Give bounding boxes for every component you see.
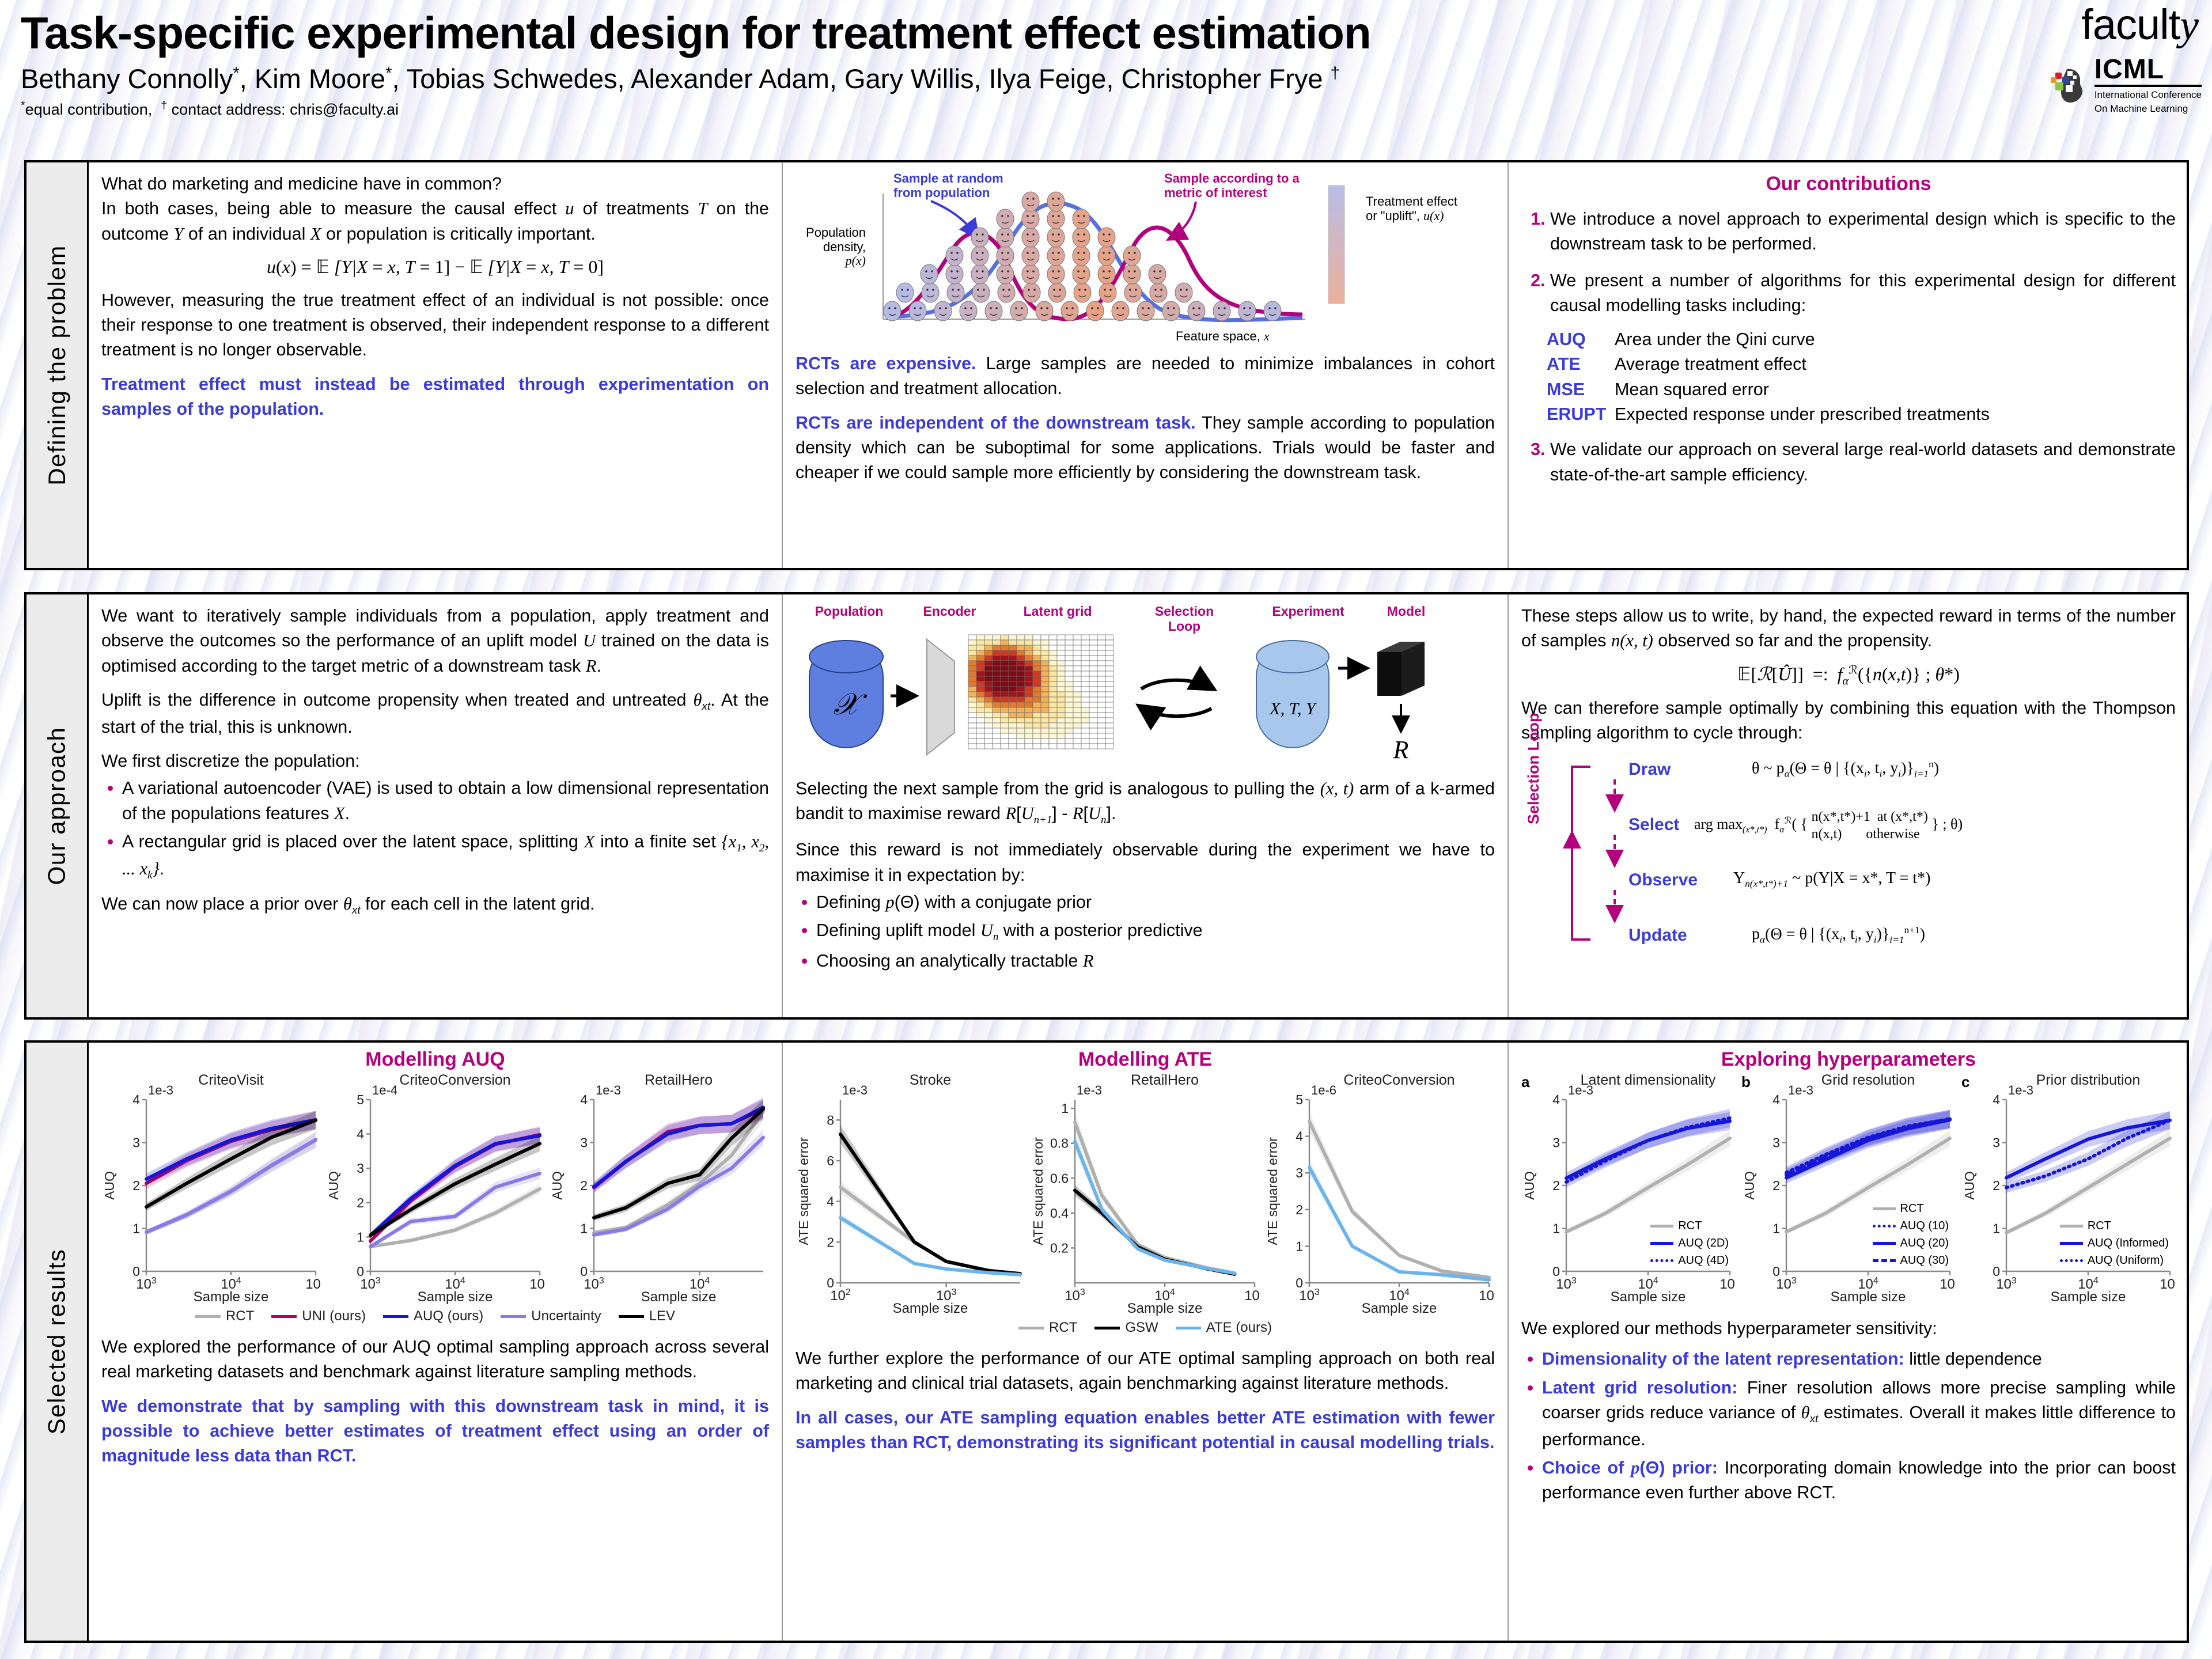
svg-text:102: 102 (830, 1287, 851, 1304)
legend-item: RCT (2060, 1217, 2169, 1234)
auq-highlight: We demonstrate that by sampling with thi… (101, 1394, 769, 1469)
logo-group: faculty ICML International Conference On… (1954, 3, 2202, 147)
svg-text:AUQ: AUQ (1962, 1171, 1977, 1200)
svg-text:X, T, Y: X, T, Y (1269, 699, 1317, 718)
chart-auq-criteovisit: 012341031041051e-3CriteoVisitAUQSample s… (101, 1074, 321, 1305)
svg-text:0.6: 0.6 (1050, 1171, 1069, 1185)
pipeline-svg: 𝒳 (796, 628, 1487, 772)
svg-text:105: 105 (305, 1276, 321, 1292)
svg-text:2: 2 (357, 1195, 364, 1210)
pipeline-stage-population: Population (800, 604, 898, 619)
abbr-row: ATEAverage treatment effect (1547, 352, 2176, 377)
svg-text:2: 2 (827, 1234, 834, 1249)
legend-item: RCT (1018, 1320, 1077, 1336)
panel-our-approach: Our approach We want to iteratively samp… (24, 592, 2189, 1020)
svg-text:4: 4 (1772, 1092, 1780, 1107)
svg-text:Stroke: Stroke (910, 1074, 951, 1088)
abbr-row: MSEMean squared error (1547, 377, 2176, 402)
list-item: Latent grid resolution: Finer resolution… (1542, 1376, 2176, 1453)
p2-expected-reward: These steps allow us to write, by hand, … (1521, 604, 2176, 654)
svg-text:105: 105 (529, 1276, 546, 1292)
svg-text:1e-3: 1e-3 (1788, 1083, 1813, 1097)
svg-text:1e-3: 1e-3 (2008, 1083, 2033, 1097)
panel-letter: c (1961, 1073, 1969, 1091)
svg-text:103: 103 (1299, 1287, 1320, 1304)
ate-paragraph: We further explore the performance of ou… (796, 1346, 1495, 1396)
panel1-col-left: What do marketing and medicine have in c… (89, 162, 783, 568)
panel2-rail-label: Our approach (43, 727, 71, 885)
legend-item: RCT (1650, 1217, 1729, 1234)
list-item: Choice of p(Θ) prior: Incorporating doma… (1542, 1456, 2176, 1506)
svg-text:1: 1 (1993, 1221, 2000, 1236)
svg-text:2: 2 (1772, 1178, 1780, 1193)
pipeline-figure: Population Encoder Latent grid Selection… (796, 604, 1495, 771)
panel-letter: b (1741, 1073, 1751, 1091)
contributions-list-3: We validate our approach on several larg… (1521, 437, 2176, 487)
contributions-list: We introduce a novel approach to experim… (1521, 207, 2176, 318)
author-list: Bethany Connolly*, Kim Moore*, Tobias Sc… (21, 65, 1956, 93)
loop-equation-select: arg max(x*,t*) fαℛ( { n(x*,t*)+1 at (x*,… (1694, 808, 1963, 843)
svg-text:6: 6 (827, 1153, 834, 1168)
uplift-equation: u(x) = 𝔼 [Y|X = x, T = 1] − 𝔼 [Y|X = x, … (101, 256, 769, 278)
list-item: Defining p(Θ) with a conjugate prior (816, 890, 1495, 915)
loop-step-draw: Draw (1628, 760, 1671, 779)
loop-equation-observe: Yn(x*,t*)+1 ~ p(Y|X = x*, T = t*) (1733, 869, 1930, 890)
svg-text:2: 2 (132, 1178, 140, 1193)
p2-bandit-analogy: Selecting the next sample from the grid … (796, 777, 1495, 828)
panel2-rail: Our approach (26, 594, 89, 1017)
svg-text:103: 103 (584, 1276, 604, 1292)
svg-text:0.4: 0.4 (1050, 1206, 1069, 1221)
list-item: Choosing an analytically tractable R (816, 949, 1495, 974)
svg-text:Grid resolution: Grid resolution (1821, 1074, 1915, 1088)
affiliation-note: *equal contribution, † contact address: … (21, 99, 1956, 119)
chart-auq-retailhero: 012341031041e-3RetailHeroAUQSample size (549, 1074, 769, 1305)
svg-text:4: 4 (132, 1092, 140, 1107)
icml-subtitle-line2: On Machine Learning (2094, 103, 2202, 115)
contribution-item: We validate our approach on several larg… (1550, 437, 2176, 487)
legend-item: AUQ (2D) (1650, 1234, 1729, 1252)
panel3-rail: Selected results (26, 1043, 89, 1641)
legend-item: AUQ (10) (1873, 1217, 1949, 1234)
svg-text:ATE squared error: ATE squared error (1031, 1137, 1046, 1245)
svg-text:1: 1 (357, 1229, 364, 1244)
p2-expectation-lead: Since this reward is not immediately obs… (796, 838, 1495, 888)
icml-wordmark: ICML (2094, 56, 2202, 87)
icml-head-icon (2050, 66, 2089, 105)
svg-text:1: 1 (1552, 1221, 1560, 1236)
svg-text:105: 105 (1940, 1276, 1956, 1292)
svg-text:3: 3 (1296, 1165, 1303, 1180)
svg-text:1e-3: 1e-3 (1077, 1083, 1102, 1097)
poster-header: Task-specific experimental design for tr… (21, 2, 1956, 153)
ate-highlight: In all cases, our ATE sampling equation … (796, 1406, 1495, 1456)
panel1-col-right: Our contributions We introduce a novel a… (1509, 162, 2188, 568)
legend-item: LEV (619, 1308, 675, 1324)
svg-text:0.8: 0.8 (1050, 1136, 1069, 1151)
svg-text:5: 5 (357, 1092, 364, 1107)
legend-item: AUQ (4D) (1650, 1252, 1729, 1269)
svg-text:1: 1 (1061, 1101, 1069, 1116)
svg-text:1: 1 (1772, 1221, 1780, 1236)
selection-loop-label: Selection Loop (1525, 713, 1543, 824)
panel3-rail-label: Selected results (43, 1249, 71, 1435)
svg-text:4: 4 (827, 1194, 834, 1209)
list-item: A rectangular grid is placed over the la… (122, 829, 769, 884)
contribution-item: We introduce a novel approach to experim… (1550, 207, 2176, 257)
panel3-col-ate: Modelling ATE 024681021031e-3StrokeATE s… (783, 1043, 1509, 1641)
population-density-figure: Sample at randomfrom population Sample a… (796, 174, 1495, 347)
legend-item: GSW (1094, 1320, 1158, 1336)
hyper-chart-row: a012341031041051e-3Latent dimensionality… (1521, 1074, 2176, 1305)
p1-rct-independent: RCTs are independent of the downstream t… (796, 411, 1495, 486)
expected-reward-equation: 𝔼[ℛ[Û]] =: fαℛ({n(x,t)} ; θ*) (1521, 663, 2176, 688)
p2-uplift-definition: Uplift is the difference in outcome prop… (101, 688, 769, 740)
modelling-ate-heading: Modelling ATE (796, 1048, 1495, 1071)
legend-item: ATE (ours) (1176, 1320, 1272, 1336)
hyper-intro: We explored our methods hyperparameter s… (1521, 1316, 2176, 1341)
svg-text:Sample size: Sample size (1362, 1301, 1437, 1316)
panel1-rail-label: Defining the problem (43, 245, 71, 486)
legend-item: AUQ (30) (1873, 1252, 1949, 1269)
svg-text:1e-6: 1e-6 (1311, 1083, 1336, 1097)
panel-letter: a (1521, 1073, 1529, 1091)
pipeline-stage-encoder: Encoder (905, 604, 994, 619)
svg-text:3: 3 (1552, 1135, 1560, 1150)
p2-thompson-sampling: We can therefore sample optimally by com… (1521, 696, 2176, 746)
pipeline-stage-model: Model (1372, 604, 1441, 619)
p2-iterative-sampling: We want to iteratively sample individual… (101, 604, 769, 679)
svg-text:1e-3: 1e-3 (842, 1083, 868, 1097)
p1-rct-expensive: RCTs are expensive. Large samples are ne… (796, 351, 1495, 402)
svg-text:103: 103 (1065, 1287, 1085, 1304)
legend-item: RCT (195, 1308, 254, 1324)
label-sample-random: Sample at randomfrom population (893, 172, 1037, 200)
page-title: Task-specific experimental design for tr… (21, 2, 1956, 55)
svg-text:Latent dimensionality: Latent dimensionality (1581, 1074, 1716, 1088)
legend-item: AUQ (Uniform) (2060, 1252, 2169, 1269)
p2-discretize-bullets: A variational autoencoder (VAE) is used … (101, 776, 769, 883)
svg-text:3: 3 (1993, 1135, 2000, 1150)
list-item: A variational autoencoder (VAE) is used … (122, 776, 769, 826)
svg-text:103: 103 (1556, 1276, 1577, 1292)
svg-text:Sample size: Sample size (1127, 1301, 1203, 1316)
svg-text:1e-3: 1e-3 (596, 1083, 621, 1097)
label-feature-space: Feature space, x (1176, 329, 1270, 344)
ate-chart-row: 024681021031e-3StrokeATE squared errorSa… (796, 1074, 1495, 1316)
svg-text:RetailHero: RetailHero (645, 1074, 713, 1088)
auq-legend: RCTUNI (ours)AUQ (ours)UncertaintyLEV (101, 1308, 769, 1324)
svg-text:1: 1 (1296, 1238, 1303, 1253)
svg-text:2: 2 (1993, 1178, 2000, 1193)
svg-text:1e-4: 1e-4 (372, 1083, 397, 1097)
panel3-col-auq: Modelling AUQ 012341031041051e-3CriteoVi… (89, 1043, 783, 1641)
chart-ate-retailhero: 0.20.40.60.811031041051e-3RetailHeroATE … (1030, 1074, 1260, 1316)
hyperparameters-heading: Exploring hyperparameters (1521, 1048, 2176, 1071)
svg-text:3: 3 (580, 1135, 588, 1150)
panel2-col-middle: Population Encoder Latent grid Selection… (783, 594, 1509, 1017)
svg-text:1: 1 (580, 1221, 588, 1236)
label-sample-metric: Sample according to ametric of interest (1164, 172, 1314, 200)
svg-text:8: 8 (827, 1112, 834, 1127)
svg-text:Prior distribution: Prior distribution (2036, 1074, 2141, 1088)
svg-text:CriteoConversion: CriteoConversion (1343, 1074, 1455, 1088)
svg-text:3: 3 (132, 1135, 140, 1150)
p1-intro-question: What do marketing and medicine have in c… (101, 172, 769, 196)
svg-text:R: R (1393, 736, 1409, 764)
panel3-col-hyper: Exploring hyperparameters a0123410310410… (1509, 1043, 2188, 1641)
svg-text:1e-3: 1e-3 (148, 1083, 173, 1097)
svg-text:2: 2 (1296, 1202, 1303, 1217)
modelling-auq-heading: Modelling AUQ (101, 1048, 769, 1071)
svg-text:105: 105 (2160, 1276, 2176, 1292)
pipeline-stage-experiment: Experiment (1256, 604, 1360, 619)
pipeline-stage-latent-grid: Latent grid (997, 604, 1118, 619)
abbr-row: AUQArea under the Qini curve (1547, 327, 2176, 352)
list-item: Defining uplift model Un with a posterio… (816, 918, 1495, 945)
chart-auq-criteoconversion: 0123451031041051e-4CriteoConversionAUQSa… (325, 1074, 546, 1305)
p2-discretize-lead: We first discretize the population: (101, 749, 769, 774)
loop-equation-update: pα(Θ = θ | {(xi, ti, yi)}i=1n+1) (1752, 925, 1925, 946)
svg-text:3: 3 (1772, 1135, 1780, 1150)
panel1-col-middle: Sample at randomfrom population Sample a… (783, 162, 1509, 568)
svg-text:CriteoConversion: CriteoConversion (399, 1074, 510, 1088)
svg-text:RetailHero: RetailHero (1131, 1074, 1199, 1088)
auq-chart-row: 012341031041051e-3CriteoVisitAUQSample s… (101, 1074, 769, 1305)
svg-text:5: 5 (1296, 1092, 1303, 1107)
chart-ate-stroke: 024681021031e-3StrokeATE squared errorSa… (796, 1074, 1026, 1316)
faculty-logo: faculty (1954, 3, 2202, 47)
svg-text:AUQ: AUQ (550, 1171, 565, 1200)
ate-legend: RCTGSWATE (ours) (796, 1320, 1495, 1336)
chart-hyper-latent-dimensionality: a012341031041051e-3Latent dimensionality… (1521, 1074, 1736, 1305)
panel-defining-the-problem: Defining the problem What do marketing a… (24, 160, 2189, 570)
legend-item: UNI (ours) (271, 1308, 366, 1324)
svg-text:Sample size: Sample size (893, 1301, 968, 1316)
svg-text:0.2: 0.2 (1050, 1240, 1069, 1255)
legend-item: AUQ (ours) (383, 1308, 483, 1324)
p1-counterfactual: However, measuring the true treatment ef… (101, 288, 769, 363)
svg-text:103: 103 (1996, 1276, 2017, 1292)
abbr-row: ERUPTExpected response under prescribed … (1547, 402, 2176, 427)
svg-text:4: 4 (357, 1127, 364, 1142)
svg-text:Sample size: Sample size (1831, 1289, 1906, 1305)
loop-equation-draw: θ ~ pα(Θ = θ | {(xi, ti, yi)}i=1n) (1752, 759, 1939, 780)
icml-subtitle-line1: International Conference (2094, 89, 2202, 101)
legend-item: Uncertainty (501, 1308, 601, 1324)
panel-selected-results: Selected results Modelling AUQ 012341031… (24, 1040, 2189, 1643)
panel2-col-left: We want to iteratively sample individual… (89, 594, 783, 1017)
legend-item: RCT (1873, 1200, 1949, 1217)
legend-item: AUQ (Informed) (2060, 1234, 2169, 1252)
svg-text:ATE squared error: ATE squared error (1265, 1137, 1280, 1245)
p2-expectation-bullets: Defining p(Θ) with a conjugate prior Def… (796, 890, 1495, 974)
label-population-density: Populationdensity,p(x) (797, 226, 866, 268)
chart-hyper-grid-resolution: b012341031041051e-3Grid resolutionAUQSam… (1741, 1074, 1956, 1305)
loop-step-select: Select (1628, 815, 1679, 835)
contribution-item: We present a number of algorithms for th… (1550, 268, 2176, 319)
selection-loop-diagram: Selection Loop Draw Select Observe Updat… (1521, 755, 2176, 986)
list-item: Dimensionality of the latent representat… (1542, 1347, 2176, 1372)
svg-text:105: 105 (1479, 1287, 1495, 1304)
svg-text:1: 1 (132, 1221, 140, 1236)
svg-text:CriteoVisit: CriteoVisit (198, 1074, 264, 1088)
legend-item: AUQ (20) (1873, 1234, 1949, 1252)
svg-text:103: 103 (136, 1276, 157, 1292)
svg-text:3: 3 (357, 1161, 364, 1176)
svg-text:AUQ: AUQ (326, 1171, 341, 1200)
svg-text:AUQ: AUQ (1742, 1171, 1757, 1200)
label-colorbar: Treatment effector "uplift", u(x) (1366, 195, 1475, 223)
hyper-bullets: Dimensionality of the latent representat… (1521, 1347, 2176, 1505)
svg-text:4: 4 (1552, 1092, 1560, 1107)
panel2-col-right: These steps allow us to write, by hand, … (1509, 594, 2188, 1017)
svg-text:4: 4 (1993, 1092, 2000, 1107)
svg-text:2: 2 (1552, 1178, 1560, 1193)
svg-text:105: 105 (1719, 1276, 1736, 1292)
svg-text:4: 4 (1296, 1129, 1303, 1144)
svg-text:Sample size: Sample size (2051, 1289, 2126, 1305)
svg-text:103: 103 (360, 1276, 381, 1292)
svg-text:AUQ: AUQ (1522, 1171, 1537, 1200)
loop-bracket-svg (1555, 760, 1647, 950)
svg-text:ATE squared error: ATE squared error (796, 1137, 811, 1245)
svg-text:2: 2 (580, 1178, 588, 1193)
svg-text:103: 103 (1776, 1276, 1797, 1292)
svg-text:Sample size: Sample size (417, 1289, 493, 1305)
panel1-rail: Defining the problem (26, 162, 89, 568)
svg-text:Sample size: Sample size (1611, 1289, 1686, 1305)
p1-intro-body: In both cases, being able to measure the… (101, 196, 769, 247)
loop-step-update: Update (1628, 926, 1687, 945)
svg-text:4: 4 (580, 1092, 588, 1107)
contributions-heading: Our contributions (1521, 173, 2176, 195)
abbreviation-list: AUQArea under the Qini curve ATEAverage … (1547, 327, 2176, 427)
svg-text:Sample size: Sample size (641, 1289, 717, 1305)
loop-step-observe: Observe (1628, 870, 1698, 890)
svg-text:AUQ: AUQ (102, 1171, 117, 1200)
auq-paragraph: We explored the performance of our AUQ o… (101, 1335, 769, 1385)
chart-ate-criteoconversion: 0123451031041051e-6CriteoConversionATE s… (1264, 1074, 1495, 1316)
p1-highlight: Treatment effect must instead be estimat… (101, 372, 769, 422)
svg-text:105: 105 (1244, 1287, 1260, 1304)
chart-hyper-prior-distribution: c012341031041051e-3Prior distributionAUQ… (1961, 1074, 2176, 1305)
p2-prior-statement: We can now place a prior over θxt for ea… (101, 892, 769, 919)
svg-text:Sample size: Sample size (194, 1289, 269, 1305)
